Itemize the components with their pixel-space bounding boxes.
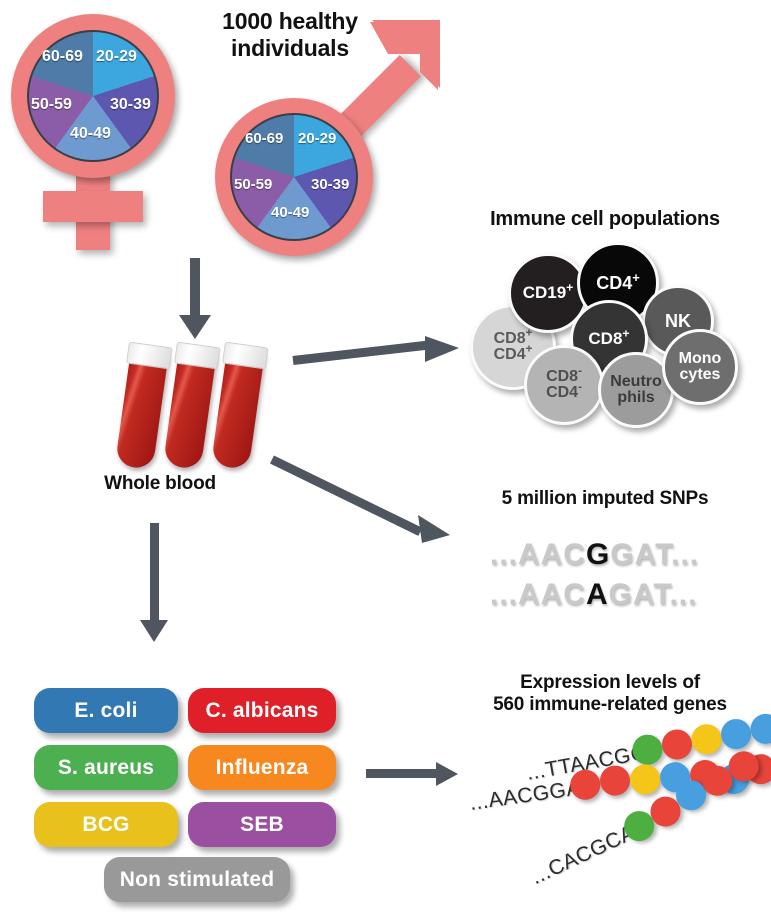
arrow-head [416,513,462,559]
pie-label-20-29-male: 20-29 [298,130,336,147]
blood-tube [115,346,169,470]
snp-suffix-1: GAT... [610,538,699,571]
snp-prefix-2: ...AAC [490,578,586,611]
blood-tube [211,346,265,470]
snp-suffix-2: GAT... [609,578,698,611]
immune-cell-label: NK [665,312,691,330]
immune-cell-monocytes: Monocytes [662,329,738,405]
pie-label-30-39-female: 30-39 [110,96,151,114]
stimulation-pill-label: S. aureus [58,756,154,780]
immune-cell-label: CD8+ [588,330,629,347]
expression-section-title: Expression levels of 560 immune-related … [450,672,770,717]
pie-label-30-39-male: 30-39 [311,176,349,193]
immune-cell-label: CD8-CD4- [546,369,582,402]
pie-label-20-29-female: 20-29 [96,48,137,66]
pie-label-50-59-male: 50-59 [234,176,272,193]
arrow-shaft [150,523,159,623]
expression-title-line-2: 560 immune-related genes [450,694,770,716]
arrow-head [423,332,465,374]
expression-bead-blue [719,717,754,752]
immune-cell-label: CD4+ [596,274,640,292]
immune-cell-cd8-cd4-double-negative: CD8-CD4- [524,345,604,425]
arrow-head [140,620,168,642]
pie-label-50-59-female: 50-59 [31,96,72,114]
arrow-shaft [366,769,438,778]
expression-bead-yellow [628,762,662,796]
snp-section-title: 5 million imputed SNPs [440,488,770,510]
immune-cell-label: CD8+CD4+ [494,331,533,364]
stimulation-pill-seb[interactable]: SEB [188,802,336,847]
arrow-head [436,762,458,786]
pie-label-60-69-male: 60-69 [245,130,283,147]
pie-label-40-49-male: 40-49 [271,204,309,221]
arrow-shaft [190,258,200,318]
immune-cell-label: Monocytes [679,351,722,384]
stimulation-pill-label: BCG [82,813,129,837]
arrow-shaft [270,455,422,535]
expression-bead-red [660,727,695,762]
snp-allele-1: ...AACGGAT... [490,538,699,572]
stimulation-pill-s-aureus[interactable]: S. aureus [34,745,178,790]
pie-label-40-49-female: 40-49 [70,125,111,143]
stimulation-pill-label: C. albicans [205,699,318,723]
stimulation-pill-non-stimulated[interactable]: Non stimulated [104,857,290,902]
whole-blood-label: Whole blood [50,473,270,495]
stimulation-pill-label: SEB [240,813,284,837]
female-symbol-crossbar [43,191,143,222]
blood-tube [163,346,217,470]
arrow-shaft [292,340,432,365]
stimulation-pill-label: E. coli [74,699,137,723]
snp-variant-2: A [586,578,609,611]
stimulation-pill-e-coli[interactable]: E. coli [34,688,178,733]
snp-variant-1: G [586,538,610,571]
stimulation-pill-bcg[interactable]: BCG [34,802,178,847]
expression-bead-yellow [689,722,724,757]
stimulation-pill-influenza[interactable]: Influenza [188,745,336,790]
snp-prefix-1: ...AAC [490,538,586,571]
expression-title-line-1: Expression levels of [450,672,770,694]
immune-section-title: Immune cell populations [440,208,770,232]
stimulation-pill-label: Non stimulated [120,868,274,892]
stimulation-pill-c-albicans[interactable]: C. albicans [188,688,336,733]
arrow-head [179,315,211,339]
immune-cell-label: CD19+ [523,284,574,301]
stimulation-pill-label: Influenza [216,756,309,780]
male-symbol-arrow-head [352,18,442,108]
pie-label-60-69-female: 60-69 [42,48,83,66]
immune-cell-label: Neutrophils [610,374,662,407]
snp-allele-2: ...AACAGAT... [490,578,697,612]
